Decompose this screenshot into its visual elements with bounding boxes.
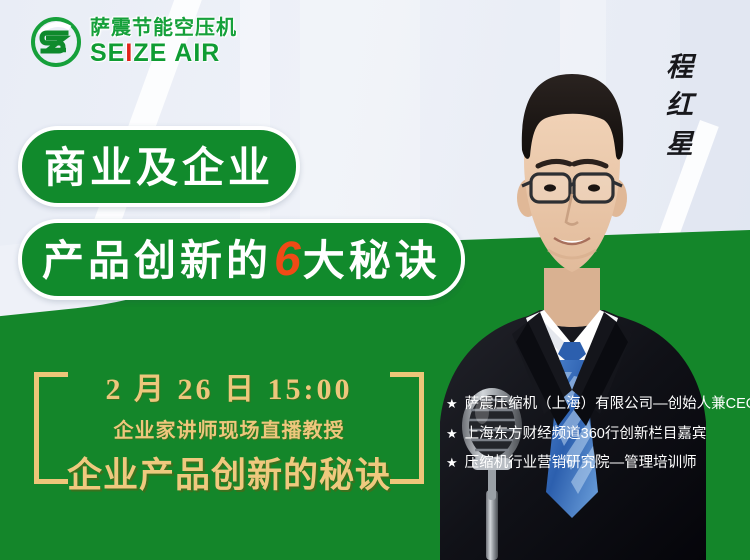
brand-logo: 萨震节能空压机 SEIZE AIR — [30, 16, 237, 68]
bracket-left-decoration — [34, 372, 68, 484]
star-icon: ★ — [446, 427, 458, 442]
headline-line2-post: 大秘诀 — [303, 237, 441, 284]
credential-text: 上海东方财经频道360行创新栏目嘉宾 — [465, 426, 707, 443]
headline-number: 6 — [272, 233, 303, 286]
event-topic: 企业产品创新的秘诀 — [34, 447, 424, 498]
headline-pill-2: 产品创新的6大秘诀 — [18, 219, 465, 300]
sz-circle-logo-icon — [30, 16, 82, 68]
brand-name-cn: 萨震节能空压机 — [90, 18, 237, 38]
credential-item: ★ 上海东方财经频道360行创新栏目嘉宾 — [446, 426, 750, 443]
name-char: 红 — [666, 86, 693, 124]
headline-group: 商业及企业 产品创新的6大秘诀 — [18, 126, 750, 300]
credential-item: ★ 萨震压缩机（上海）有限公司—创始人兼CEO — [446, 396, 750, 413]
event-info-block: 2 月 26 日 15:00 企业家讲师现场直播教授 企业产品创新的秘诀 — [34, 358, 424, 498]
star-icon: ★ — [446, 397, 458, 412]
brand-en-pre: SE — [90, 39, 125, 67]
name-char: 星 — [666, 125, 693, 163]
credential-text: 压缩机行业营销研究院—管理培训师 — [465, 455, 697, 472]
headline-pill-1: 商业及企业 — [18, 126, 300, 207]
credential-text: 萨震压缩机（上海）有限公司—创始人兼CEO — [465, 396, 750, 413]
name-char: 程 — [666, 48, 693, 86]
event-datetime: 2 月 26 日 15:00 — [34, 358, 424, 408]
bracket-right-decoration — [390, 372, 424, 484]
promo-banner: 程 红 星 萨震节能空压机 SEIZE AIR 商业及企业 产品创新的6大秘诀 … — [0, 0, 750, 560]
credentials-list: ★ 萨震压缩机（上海）有限公司—创始人兼CEO ★ 上海东方财经频道360行创新… — [446, 396, 750, 485]
brand-en-post: ZE AIR — [133, 39, 220, 67]
credential-item: ★ 压缩机行业营销研究院—管理培训师 — [446, 455, 750, 472]
headline-line2-pre: 产品创新的 — [42, 237, 272, 284]
star-icon: ★ — [446, 456, 458, 471]
event-subtitle: 企业家讲师现场直播教授 — [34, 414, 424, 443]
brand-name-en: SEIZE AIR — [90, 41, 237, 66]
speaker-name-vertical: 程 红 星 — [666, 48, 693, 163]
